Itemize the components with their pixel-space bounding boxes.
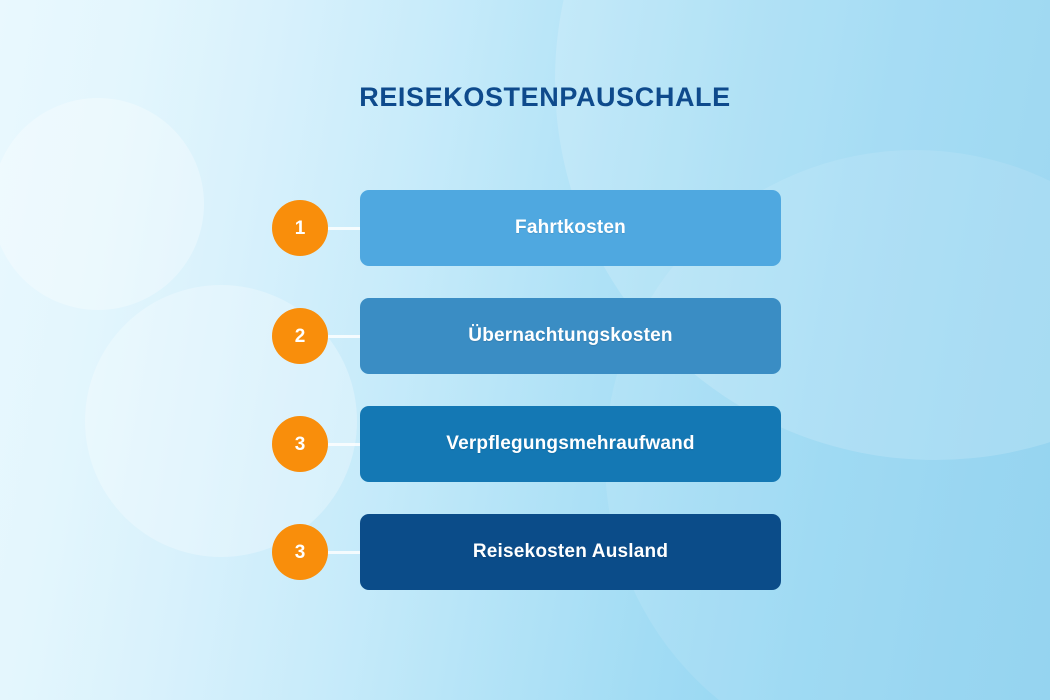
step-list: 1 Fahrtkosten 2 Übernachtungskosten 3 Ve… xyxy=(0,190,1050,590)
step-bar-label: Übernachtungskosten xyxy=(468,325,672,347)
infographic-canvas: REISEKOSTENPAUSCHALE 1 Fahrtkosten 2 Übe… xyxy=(0,0,1050,700)
step-bar[interactable]: Übernachtungskosten xyxy=(360,298,781,374)
step-bar[interactable]: Fahrtkosten xyxy=(360,190,781,266)
step-bar[interactable]: Reisekosten Ausland xyxy=(360,514,781,590)
step-number-badge: 3 xyxy=(272,416,328,472)
step-number-label: 3 xyxy=(295,543,306,562)
list-item: 2 Übernachtungskosten xyxy=(0,298,1050,374)
step-number-badge: 1 xyxy=(272,200,328,256)
step-number-badge: 3 xyxy=(272,524,328,580)
step-bar-label: Reisekosten Ausland xyxy=(473,541,668,563)
list-item: 1 Fahrtkosten xyxy=(0,190,1050,266)
step-bar[interactable]: Verpflegungsmehraufwand xyxy=(360,406,781,482)
page-title: REISEKOSTENPAUSCHALE xyxy=(0,82,1050,113)
list-item: 3 Verpflegungsmehraufwand xyxy=(0,406,1050,482)
step-number-label: 3 xyxy=(295,435,306,454)
step-bar-label: Verpflegungsmehraufwand xyxy=(446,433,694,455)
step-number-label: 1 xyxy=(295,219,306,238)
step-bar-label: Fahrtkosten xyxy=(515,217,626,239)
step-number-badge: 2 xyxy=(272,308,328,364)
step-number-label: 2 xyxy=(295,327,306,346)
list-item: 3 Reisekosten Ausland xyxy=(0,514,1050,590)
